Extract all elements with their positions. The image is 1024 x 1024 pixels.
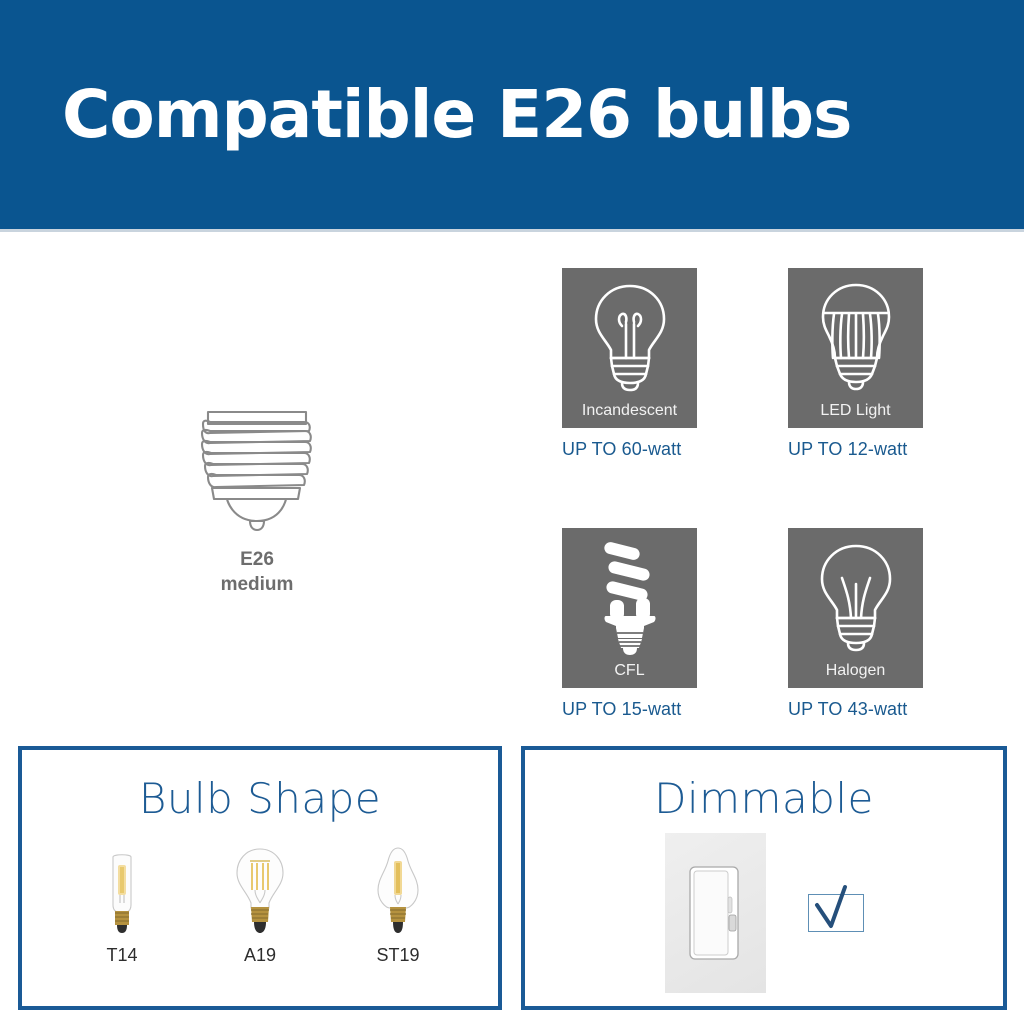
bulb-shape-panel: Bulb Shape T14 xyxy=(18,746,502,1010)
bulb-type-wattage: UP TO 15-watt xyxy=(562,699,697,720)
e26-base-label: E26 medium xyxy=(172,547,342,597)
bulb-shape-label: T14 xyxy=(76,945,168,966)
t14-tubular-bulb-icon xyxy=(99,851,145,937)
bulb-type-cell-halogen[interactable]: Halogen UP TO 43-watt xyxy=(788,528,923,720)
bulb-shape-label: A19 xyxy=(214,945,306,966)
bulb-shape-item-a19[interactable]: A19 xyxy=(214,845,306,966)
checkmark-icon xyxy=(811,881,861,933)
header-divider xyxy=(0,229,1024,232)
dimmable-checkbox[interactable] xyxy=(808,894,864,932)
led-bulb-icon xyxy=(808,278,904,396)
bulb-type-grid: Incandescent UP TO 60-watt xyxy=(562,268,962,720)
bulb-shape-list: T14 A19 xyxy=(22,845,498,966)
dimmable-panel: Dimmable xyxy=(521,746,1007,1010)
a19-standard-bulb-icon xyxy=(233,845,287,937)
bulb-type-cell-incandescent[interactable]: Incandescent UP TO 60-watt xyxy=(562,268,697,460)
e26-screw-base-icon xyxy=(172,400,342,535)
bulb-shape-item-st19[interactable]: ST19 xyxy=(352,845,444,966)
dimmable-title: Dimmable xyxy=(525,774,1003,823)
cfl-bulb-icon xyxy=(582,538,678,656)
bulb-type-cell-led[interactable]: LED Light UP TO 12-watt xyxy=(788,268,923,460)
bulb-type-row: CFL UP TO 15-watt xyxy=(562,528,962,720)
bulb-type-tile[interactable]: CFL xyxy=(562,528,697,688)
page-header: Compatible E26 bulbs xyxy=(0,0,1024,229)
bulb-type-cell-cfl[interactable]: CFL UP TO 15-watt xyxy=(562,528,697,720)
bulb-type-name: LED Light xyxy=(788,402,923,420)
bulb-type-tile[interactable]: LED Light xyxy=(788,268,923,428)
bulb-type-name: CFL xyxy=(562,662,697,680)
e26-base-block: E26 medium xyxy=(172,400,342,597)
halogen-bulb-icon xyxy=(808,538,904,656)
bulb-type-wattage: UP TO 43-watt xyxy=(788,699,923,720)
dimmable-content xyxy=(525,833,1003,993)
bulb-shape-title: Bulb Shape xyxy=(22,774,498,823)
incandescent-bulb-icon xyxy=(582,278,678,396)
bulb-shape-label: ST19 xyxy=(352,945,444,966)
bulb-type-wattage: UP TO 60-watt xyxy=(562,439,697,460)
dimmer-switch-icon xyxy=(684,863,746,963)
bulb-type-name: Incandescent xyxy=(562,402,697,420)
st19-teardrop-bulb-icon xyxy=(372,845,424,937)
bulb-type-name: Halogen xyxy=(788,662,923,680)
bulb-type-wattage: UP TO 12-watt xyxy=(788,439,923,460)
bulb-shape-item-t14[interactable]: T14 xyxy=(76,851,168,966)
bulb-type-row: Incandescent UP TO 60-watt xyxy=(562,268,962,460)
page-title: Compatible E26 bulbs xyxy=(62,82,851,148)
dimmer-switch-photo xyxy=(665,833,766,993)
bulb-type-tile[interactable]: Incandescent xyxy=(562,268,697,428)
bulb-type-tile[interactable]: Halogen xyxy=(788,528,923,688)
